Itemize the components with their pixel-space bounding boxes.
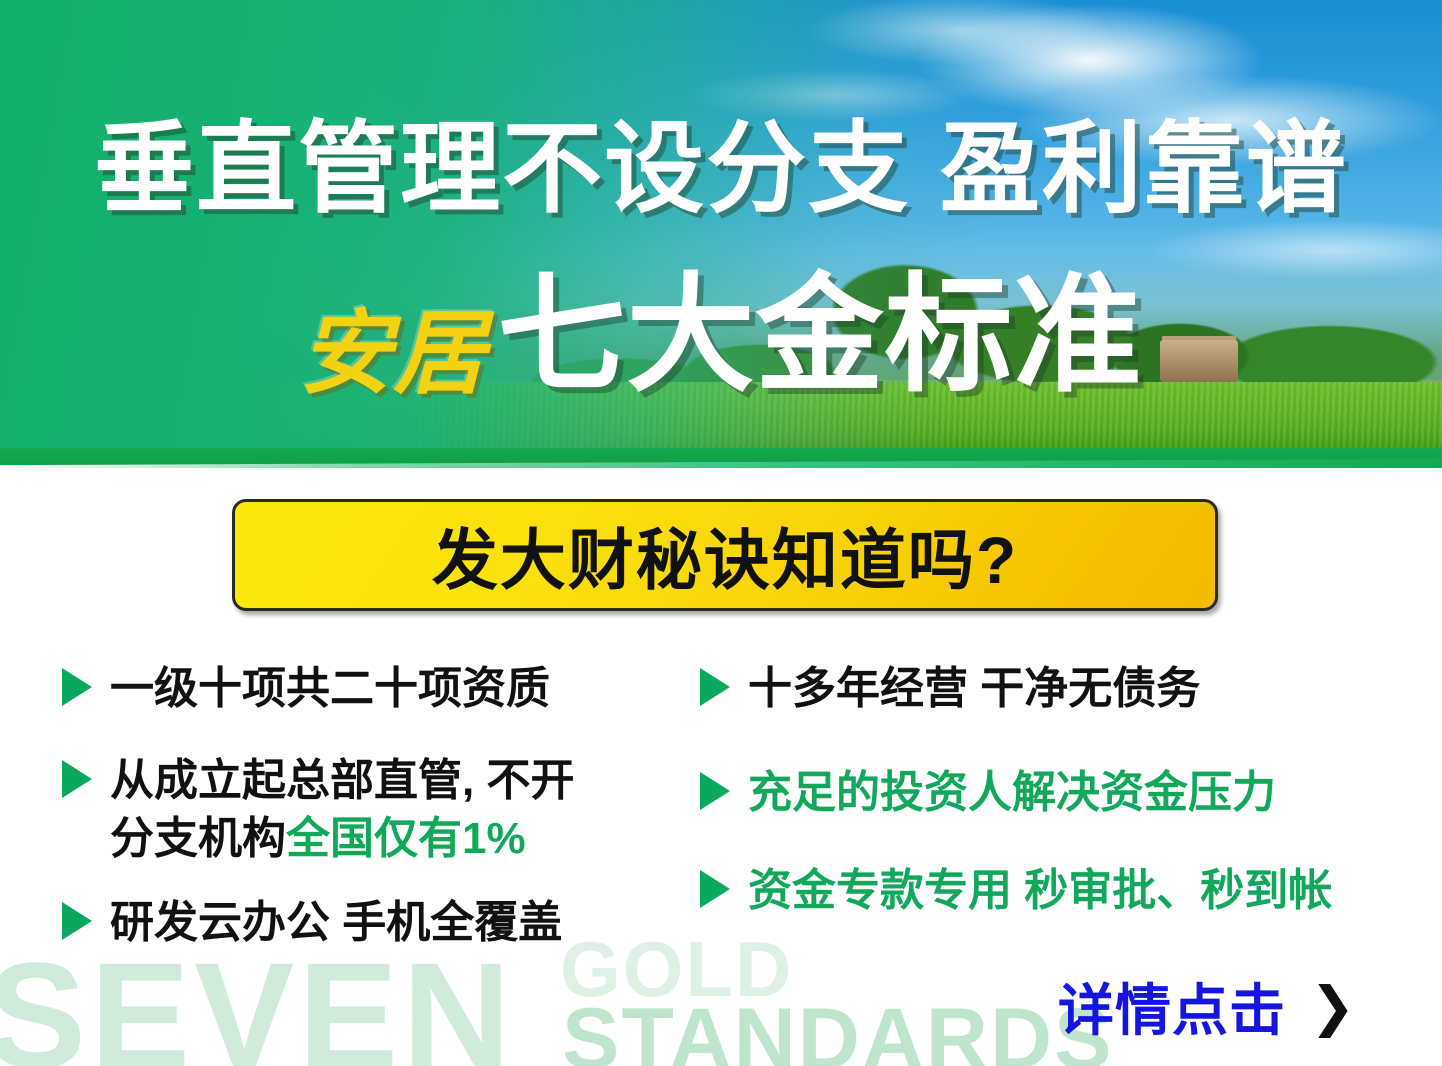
details-link-label: 详情点击	[1058, 966, 1286, 1047]
feature-line-2-highlight: 全国仅有1%	[286, 814, 526, 863]
details-link[interactable]: 详情点击 ❯	[1058, 966, 1355, 1047]
triangle-right-icon	[700, 772, 730, 810]
feature-item: 从成立起总部直管, 不开 分支机构全国仅有1%	[62, 752, 682, 868]
feature-label: 十多年经营 干净无债务	[748, 660, 1200, 718]
chevron-right-icon: ❯	[1310, 980, 1355, 1034]
feature-item: 充足的投资人解决资金压力	[700, 764, 1420, 822]
secret-question-button[interactable]: 发大财秘诀知道吗?	[232, 499, 1218, 611]
hero-section: 垂直管理不设分支 盈利靠谱 安居七大金标准	[0, 0, 1442, 468]
triangle-right-icon	[62, 902, 92, 940]
features-column-left: 一级十项共二十项资质 从成立起总部直管, 不开 分支机构全国仅有1% 研发云办公…	[62, 660, 682, 978]
promo-banner: 垂直管理不设分支 盈利靠谱 安居七大金标准 SEVEN GOLD STANDAR…	[0, 0, 1442, 1066]
feature-label: 从成立起总部直管, 不开 分支机构全国仅有1%	[110, 752, 574, 868]
triangle-right-icon	[62, 668, 92, 706]
feature-label: 一级十项共二十项资质	[110, 660, 550, 718]
feature-line-1: 从成立起总部直管, 不开	[110, 756, 574, 805]
secret-question-label: 发大财秘诀知道吗?	[432, 507, 1018, 603]
hero-brand-word: 安居	[299, 290, 487, 418]
feature-line-2-prefix: 分支机构	[110, 814, 286, 863]
triangle-right-icon	[700, 870, 730, 908]
feature-item: 资金专款专用 秒审批、秒到帐	[700, 862, 1420, 920]
feature-label: 研发云办公 手机全覆盖	[110, 894, 562, 952]
features-column-right: 十多年经营 干净无债务 充足的投资人解决资金压力 资金专款专用 秒审批、秒到帐	[700, 660, 1420, 946]
hero-headline: 垂直管理不设分支 盈利靠谱	[0, 116, 1442, 222]
feature-label: 充足的投资人解决资金压力	[748, 764, 1276, 822]
feature-item: 研发云办公 手机全覆盖	[62, 894, 682, 952]
feature-item: 一级十项共二十项资质	[62, 660, 682, 718]
triangle-right-icon	[62, 760, 92, 798]
watermark-standards: STANDARDS	[562, 996, 1114, 1066]
hero-subheadline: 安居七大金标准	[0, 272, 1442, 439]
feature-label: 资金专款专用 秒审批、秒到帐	[748, 862, 1332, 920]
triangle-right-icon	[700, 668, 730, 706]
hero-subheadline-main: 七大金标准	[498, 272, 1143, 400]
feature-item: 十多年经营 干净无债务	[700, 660, 1420, 718]
